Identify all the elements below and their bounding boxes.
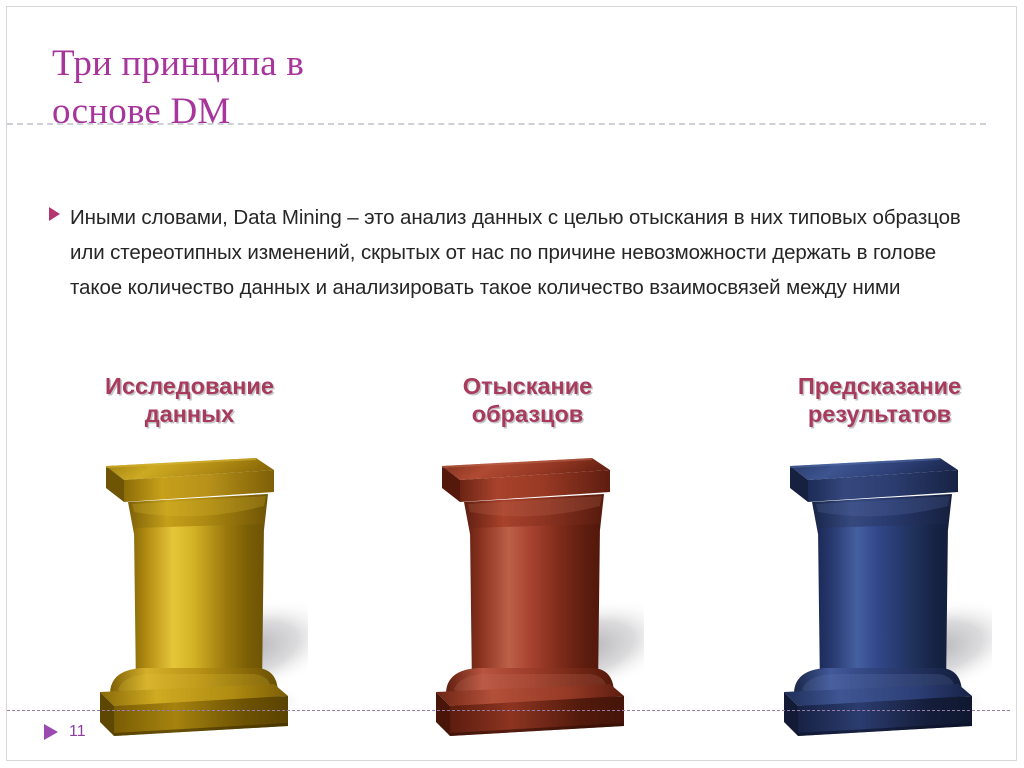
triangle-right-icon [42, 722, 60, 742]
body-paragraph-text: Иными словами, Data Mining – это анализ … [70, 200, 978, 305]
pillar-caption-prediction: Предсказание результатов [752, 372, 1007, 428]
slide-canvas: Три принципа в основе DM Иными словами, … [0, 0, 1024, 768]
page-number-marker: 11 [42, 722, 86, 742]
title-divider-dashed [7, 123, 986, 125]
body-paragraph-block: Иными словами, Data Mining – это анализ … [48, 200, 978, 305]
pillar-caption-exploration: Исследование данных [62, 372, 317, 428]
pillar-graphic-navy-blue [762, 444, 992, 744]
pillar-graphic-brick-red [414, 444, 644, 744]
pillar-graphic-gold [78, 444, 308, 744]
page-number-label: 11 [69, 723, 86, 741]
pillar-caption-pattern-discovery: Отыскание образцов [400, 372, 655, 428]
page-title: Три принципа в основе DM [52, 40, 612, 136]
footer-divider-dashed [7, 710, 1010, 711]
triangle-right-icon [48, 200, 70, 222]
